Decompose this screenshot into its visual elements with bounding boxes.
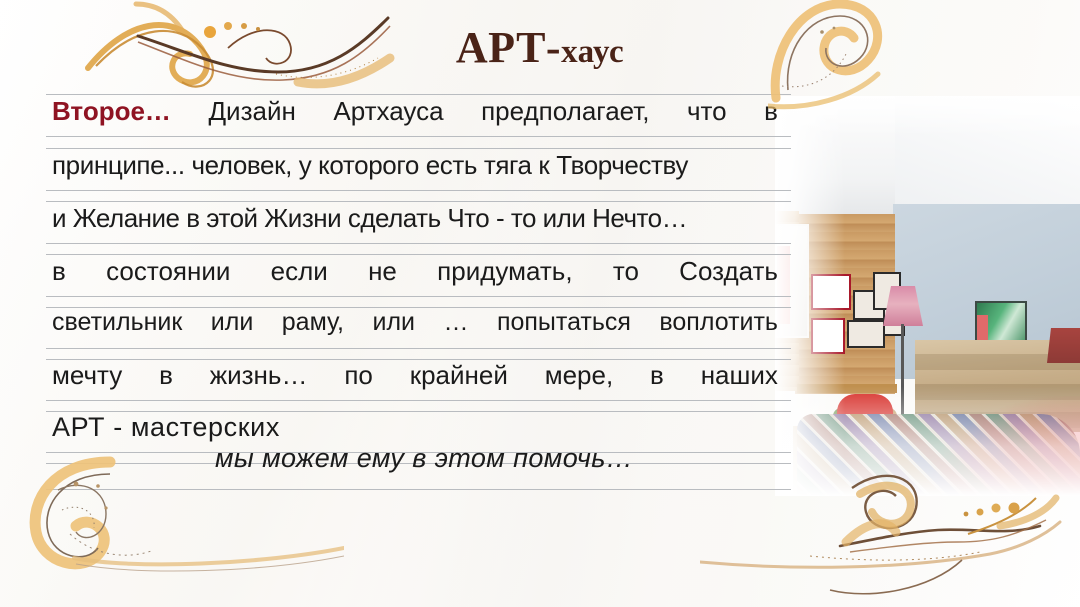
body-line-4-word-6: то [613,256,639,287]
body-line-4-word-5: придумать, [437,256,572,287]
body-line-5-word-6: попытаться [497,308,631,337]
body-line-6-word-8: наших [701,360,778,391]
body-line-6-word-6: мере, [545,360,613,391]
rule-line-4 [46,190,791,191]
body-line-1-word-1: Дизайн [208,96,295,127]
body-line-5-word-4: или [372,308,415,337]
slide-canvas: АРТ-хаус Второе… Дизайн Артхауса предпол… [0,0,1080,607]
rule-line-8 [46,296,791,297]
body-line-1-word-3: предполагает, [481,96,649,127]
body-line-6-word-2: в [159,360,173,391]
body-line-5-word-2: или [211,308,254,337]
body-line-4-word-1: в [52,256,66,287]
body-line-5-word-1: светильник [52,308,182,337]
body-line-5: светильник или раму, или … попытаться во… [52,308,778,337]
photo-fade-top [775,96,1080,136]
body-line-5-word-7: воплотить [659,308,778,337]
photo-picture-frame-gray-3 [847,320,885,348]
rule-line-10 [46,348,791,349]
body-line-6-word-7: в [650,360,664,391]
body-line-6-word-3: жизнь… [210,360,308,391]
body-line-6-word-4: по [344,360,373,391]
rule-line-3 [46,148,791,149]
body-line-3: и Желание в этой Жизни сделать Что - то … [52,203,778,234]
body-line-1-word-4: что [687,96,727,127]
body-line-5-word-3: раму, [282,308,344,337]
rule-line-2 [46,136,791,137]
title-secondary: хаус [561,34,624,70]
photo-bed-post [1047,328,1080,363]
body-line-4: в состоянии если не придумать, то Создат… [52,256,778,287]
body-lead-word: Второе… [52,96,171,127]
body-line-6-word-5: крайней [410,360,508,391]
rule-line-7 [46,254,791,255]
body-line-6: мечту в жизнь… по крайней мере, в наших [52,360,778,391]
body-line-1: Второе… Дизайн Артхауса предполагает, чт… [52,96,778,127]
rule-line-12 [46,400,791,401]
rule-line-1 [46,94,791,95]
title-separator: - [546,23,561,72]
body-line-4-word-2: состоянии [106,256,230,287]
page-title: АРТ-хаус [0,22,1080,73]
body-line-4-word-3: если [271,256,328,287]
body-line-2: принципе... человек, у которого есть тяг… [52,150,778,181]
body-line-1-word-2: Артхауса [333,96,443,127]
body-line-7: АРТ - мастерских [52,412,778,443]
body-line-4-word-7: Создать [679,256,778,287]
bedroom-photo [775,96,1080,496]
photo-fade-bottom [775,386,1080,496]
body-line-6-word-1: мечту [52,360,122,391]
body-line-4-word-4: не [368,256,397,287]
title-primary: АРТ [456,23,546,72]
body-line-5-word-5: … [443,308,468,337]
rule-line-16 [46,489,791,490]
rule-line-5 [46,201,791,202]
body-line-1-word-5: в [764,96,778,127]
rule-line-6 [46,243,791,244]
closing-line: мы можем ему в этом помочь… [215,443,785,474]
